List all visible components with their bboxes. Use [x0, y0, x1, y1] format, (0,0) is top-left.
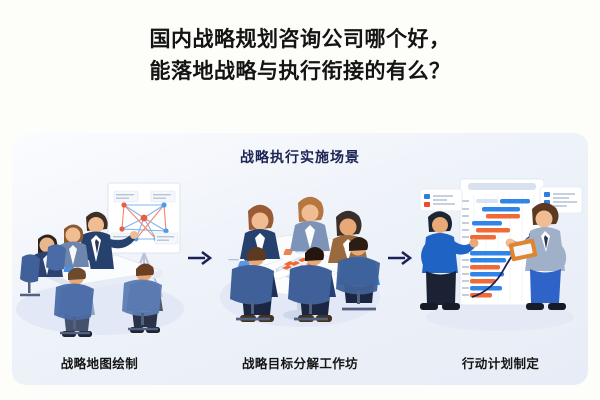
chair-left-b — [46, 244, 66, 270]
arrow-right-icon — [388, 250, 412, 266]
illustration-gantt-dashboard — [412, 173, 588, 343]
page-headline: 国内战略规划咨询公司哪个好， 能落地战略与执行衔接的有么？ — [0, 24, 600, 88]
panel-action-plan — [412, 173, 588, 343]
headline-line-2: 能落地战略与执行衔接的有么？ — [0, 56, 600, 88]
caption-step-3: 行动计划制定 — [413, 353, 588, 372]
panel-goal-workshop — [212, 173, 388, 343]
scene-card: 战略执行实施场景 — [12, 133, 588, 385]
caption-step-2: 战略目标分解工作坊 — [213, 353, 388, 372]
connector-arrow-1 — [188, 173, 212, 343]
connector-arrow-2 — [388, 173, 412, 343]
scene-panels — [12, 173, 588, 343]
legend-card-left — [420, 189, 462, 211]
headline-line-1: 国内战略规划咨询公司哪个好， — [0, 24, 600, 56]
chair-left-a — [20, 254, 40, 295]
arrow-right-icon — [188, 250, 212, 266]
card-title: 战略执行实施场景 — [12, 147, 588, 167]
illustration-round-table-workshop — [212, 173, 388, 343]
caption-step-1: 战略地图绘制 — [12, 353, 187, 372]
panel-strategy-map — [12, 173, 188, 343]
illustration-boardroom-presentation — [12, 173, 188, 343]
step-captions: 战略地图绘制 战略目标分解工作坊 行动计划制定 — [12, 345, 588, 379]
person-back-center — [290, 197, 330, 257]
